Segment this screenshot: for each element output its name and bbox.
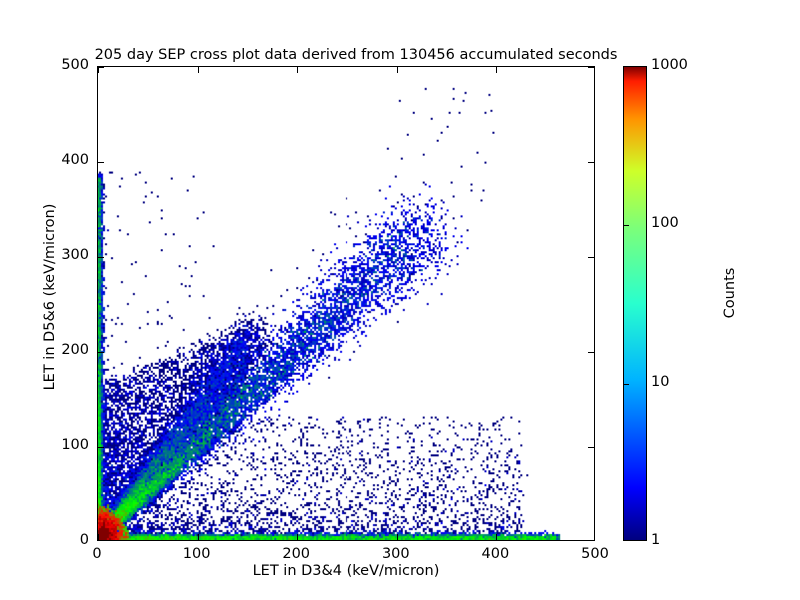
- colorbar-tick-label: 100: [651, 215, 679, 231]
- y-tick-mark-right: [588, 352, 594, 353]
- y-tick-mark-right: [588, 447, 594, 448]
- y-tick-mark: [98, 257, 104, 258]
- colorbar: [623, 66, 647, 541]
- title-line-1: 205 day SEP cross plot data derived from…: [0, 46, 712, 65]
- x-tick-label: 100: [157, 546, 237, 562]
- x-tick-mark-top: [198, 67, 199, 73]
- x-tick-mark-top: [397, 67, 398, 73]
- colorbar-tick-label: 10: [651, 374, 669, 390]
- y-axis-label: LET in D5&6 (keV/micron): [42, 97, 58, 497]
- scatter-density-plot: [98, 67, 594, 540]
- x-tick-mark: [397, 534, 398, 540]
- x-axis-label: LET in D3&4 (keV/micron): [97, 563, 595, 579]
- figure-canvas: 205 day SEP cross plot data derived from…: [0, 0, 800, 600]
- plot-axes: [97, 66, 595, 541]
- y-tick-label: 500: [35, 57, 89, 73]
- x-tick-mark-top: [496, 67, 497, 73]
- colorbar-label: Counts: [722, 163, 738, 423]
- x-tick-mark-top: [98, 67, 99, 73]
- x-tick-label: 500: [555, 546, 635, 562]
- colorbar-tick-mark: [624, 384, 629, 385]
- colorbar-gradient: [624, 67, 646, 540]
- x-tick-mark: [198, 534, 199, 540]
- colorbar-tick-label: 1000: [651, 57, 688, 73]
- y-tick-mark: [98, 162, 104, 163]
- x-tick-mark: [98, 534, 99, 540]
- x-tick-label: 200: [256, 546, 336, 562]
- x-tick-label: 300: [356, 546, 436, 562]
- colorbar-tick-label: 1: [651, 532, 660, 548]
- x-tick-label: 0: [57, 546, 137, 562]
- y-tick-mark: [98, 447, 104, 448]
- x-tick-mark: [297, 534, 298, 540]
- y-tick-mark-right: [588, 67, 594, 68]
- y-tick-mark: [98, 352, 104, 353]
- y-tick-mark-right: [588, 257, 594, 258]
- y-tick-mark-right: [588, 162, 594, 163]
- x-tick-mark: [496, 534, 497, 540]
- x-tick-mark-top: [297, 67, 298, 73]
- colorbar-tick-mark: [624, 225, 629, 226]
- x-tick-label: 400: [455, 546, 535, 562]
